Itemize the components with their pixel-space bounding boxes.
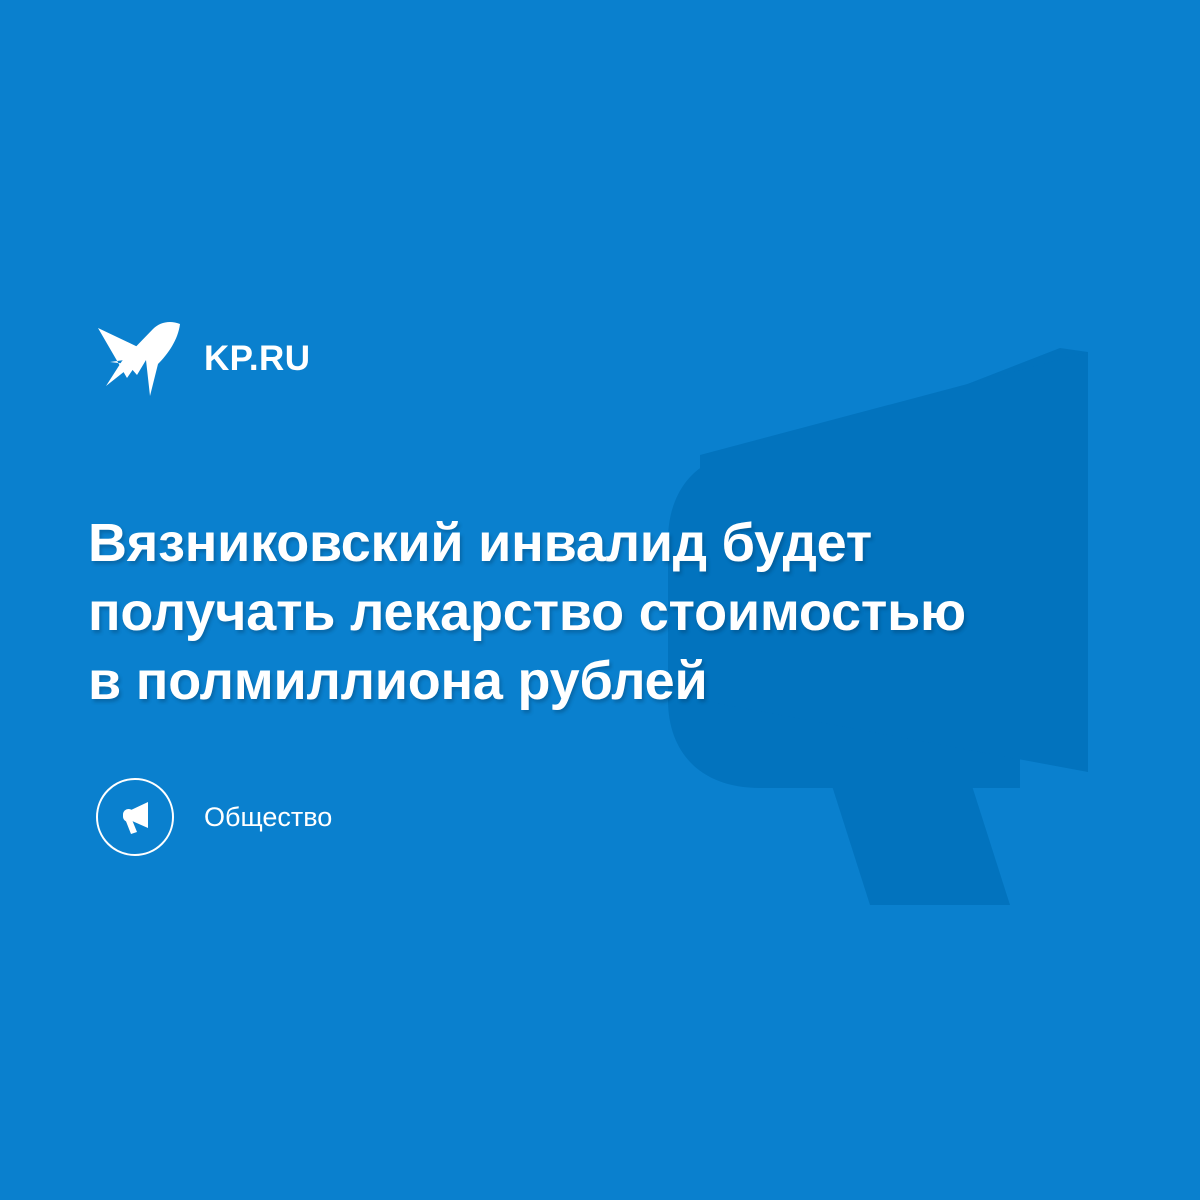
headline-line-3: в полмиллиона рублей xyxy=(88,647,1098,716)
swallow-bird-icon xyxy=(96,318,182,398)
brand-wordmark: KP.RU xyxy=(204,341,310,376)
brand-logo[interactable]: KP.RU xyxy=(96,316,310,400)
article-headline: Вязниковский инвалид будет получать лека… xyxy=(88,509,1098,716)
headline-line-1: Вязниковский инвалид будет xyxy=(88,509,1098,578)
megaphone-icon xyxy=(114,796,156,838)
category-icon-circle xyxy=(96,778,174,856)
headline-line-2: получать лекарство стоимостью xyxy=(88,578,1098,647)
category-label: Общество xyxy=(204,804,332,831)
category-badge[interactable]: Общество xyxy=(96,773,332,861)
article-share-card: KP.RU Вязниковский инвалид будет получат… xyxy=(0,0,1200,1200)
